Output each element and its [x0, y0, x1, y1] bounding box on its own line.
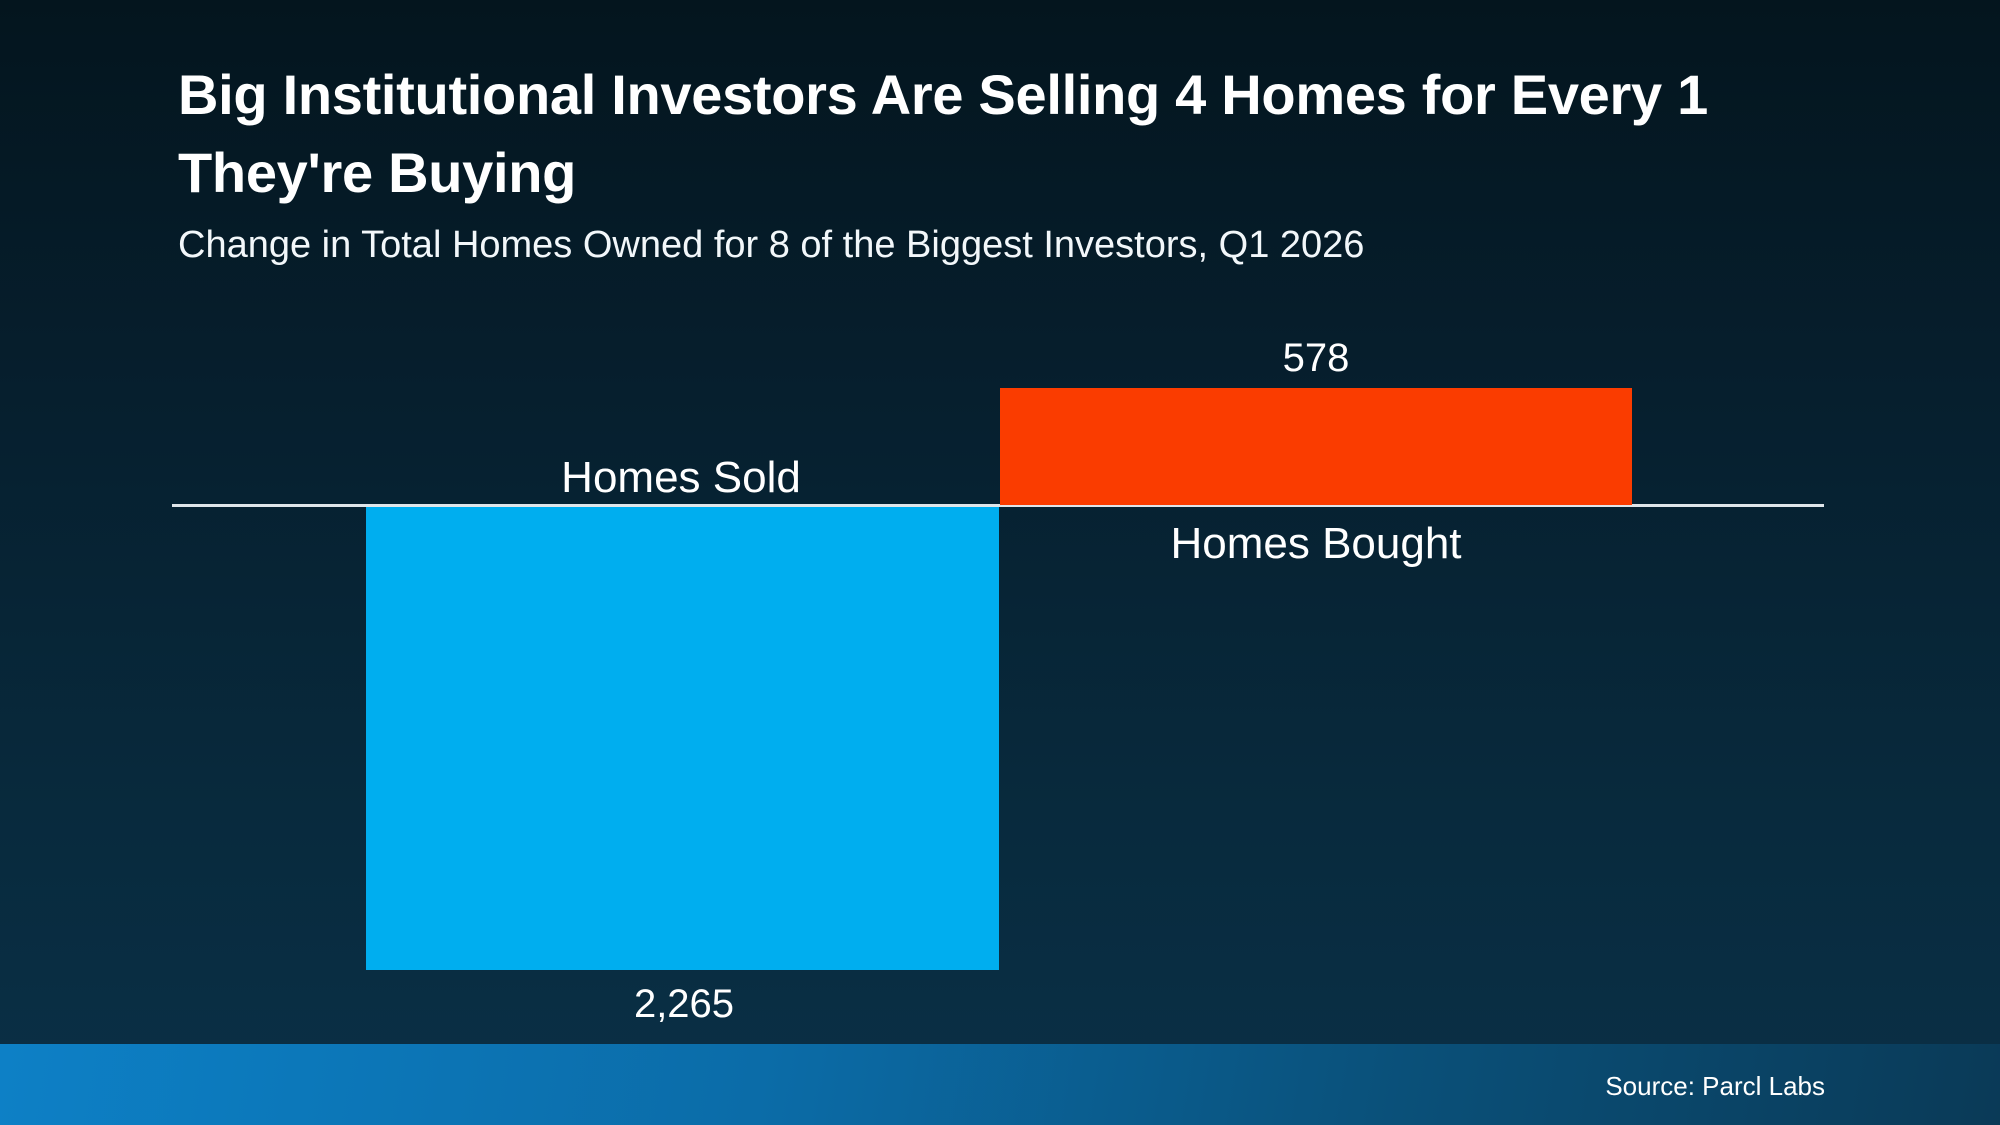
- bar-homes-sold[interactable]: [366, 507, 999, 970]
- bar-value-label-homes-bought: 578: [1283, 334, 1350, 382]
- bar-value-label-homes-sold: 2,265: [634, 980, 734, 1028]
- footer-band: Source: Parcl Labs: [0, 1044, 2000, 1125]
- chart-canvas: Big Institutional Investors Are Selling …: [0, 0, 2000, 1125]
- source-attribution: Source: Parcl Labs: [1605, 1070, 1825, 1102]
- plot-area: 578 Homes Bought Homes Sold 2,265: [0, 0, 2000, 1044]
- bar-category-label-homes-sold: Homes Sold: [561, 452, 801, 504]
- bar-homes-bought[interactable]: [1000, 388, 1632, 505]
- bar-category-label-homes-bought: Homes Bought: [1170, 518, 1461, 570]
